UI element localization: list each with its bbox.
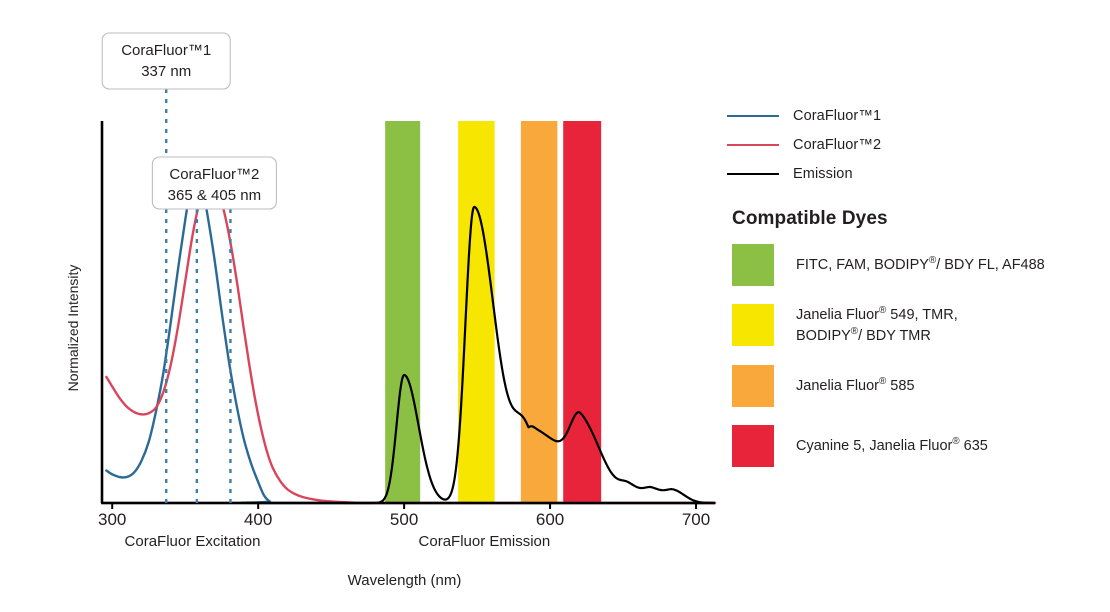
dye-color-swatch (732, 244, 774, 286)
legend-line-item: CoraFluor™1 (727, 108, 1097, 124)
legend-line-swatch (727, 115, 779, 117)
marker-callout-line2: 365 & 405 nm (168, 187, 261, 204)
dye-label: Janelia Fluor® 585 (796, 375, 915, 396)
green-band (385, 121, 420, 503)
legend-line-item: Emission (727, 166, 1097, 182)
dye-color-swatch (732, 425, 774, 467)
x-tick-label: 600 (536, 510, 564, 529)
dye-color-swatch (732, 304, 774, 346)
dye-legend-item: Janelia Fluor® 549, TMR,BODIPY®/ BDY TMR (727, 304, 1097, 347)
y-axis-title: Normalized Intensity (65, 265, 81, 392)
dye-legend-item: FITC, FAM, BODIPY®/ BDY FL, AF488 (727, 244, 1097, 286)
legend-line-label: CoraFluor™1 (793, 108, 881, 124)
dye-legend-item: Janelia Fluor® 585 (727, 365, 1097, 407)
axis-region-label: CoraFluor Emission (419, 533, 551, 550)
dye-label: Janelia Fluor® 549, TMR,BODIPY®/ BDY TMR (796, 304, 958, 347)
marker-callout-line2: 337 nm (141, 63, 191, 80)
x-axis-ticks: 300400500600700 (98, 503, 710, 529)
dye-label: FITC, FAM, BODIPY®/ BDY FL, AF488 (796, 254, 1045, 275)
legend-panel: CoraFluor™1CoraFluor™2EmissionCompatible… (727, 108, 1097, 485)
x-tick-label: 500 (390, 510, 418, 529)
yellow-band (458, 121, 494, 503)
orange-band (521, 121, 557, 503)
legend-line-swatch (727, 144, 779, 146)
x-tick-label: 700 (682, 510, 710, 529)
excitation-markers: CoraFluor™1337 nmCoraFluor™2365 & 405 nm (102, 33, 276, 503)
red-band (563, 121, 601, 503)
legend-line-label: CoraFluor™2 (793, 137, 881, 153)
legend-line-item: CoraFluor™2 (727, 137, 1097, 153)
marker-callout-line1: CoraFluor™2 (169, 166, 259, 183)
axis-region-label: CoraFluor Excitation (125, 533, 261, 550)
figure-root: 300400500600700CoraFluor ExcitationCoraF… (0, 0, 1110, 612)
compatible-dyes-heading: Compatible Dyes (732, 208, 1097, 230)
x-tick-label: 300 (98, 510, 126, 529)
dye-legend-item: Cyanine 5, Janelia Fluor® 635 (727, 425, 1097, 467)
dye-color-swatch (732, 365, 774, 407)
legend-line-label: Emission (793, 166, 853, 182)
legend-line-swatch (727, 173, 779, 175)
dye-label: Cyanine 5, Janelia Fluor® 635 (796, 435, 988, 456)
x-tick-label: 400 (244, 510, 272, 529)
x-axis-title: Wavelength (nm) (348, 572, 462, 589)
marker-callout-line1: CoraFluor™1 (121, 42, 211, 59)
